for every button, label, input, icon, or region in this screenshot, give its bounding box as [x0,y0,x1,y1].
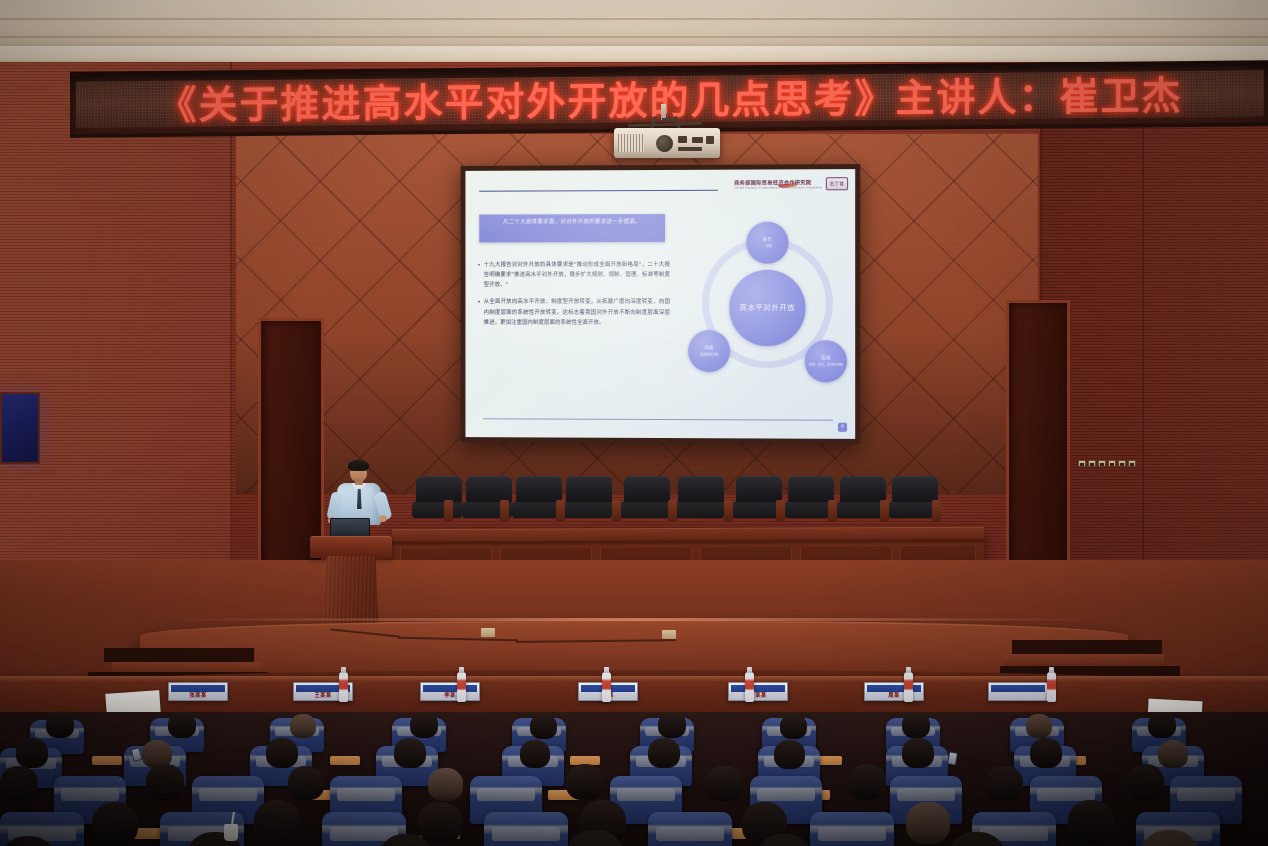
diagram-node-sublabel: 开放、多元、区域开放链 [809,363,843,367]
audience-person-head [410,712,438,738]
conference-chair[interactable] [678,476,724,504]
namecard: 周某 [864,682,924,701]
diagram-node-top: 多元 一带路 [746,222,788,264]
diagram-node-label: 高质 [704,346,713,352]
slide-top-rule [479,190,718,192]
power-outlet-icon[interactable] [1098,460,1106,467]
audience-seat[interactable] [810,812,894,846]
slide-circle-diagram: 高水平对外开放 多元 一带路 高质 自由贸易试验 区域 开放、多元、区域开放链 [682,217,853,403]
audience-person-head [288,766,324,800]
water-bottle [745,672,754,702]
audience-phone[interactable] [947,751,958,765]
namecard-text: 张某某 [189,691,206,699]
diagram-node-bottom-right: 区域 开放、多元、区域开放链 [805,340,847,382]
floor-cable-box [481,628,495,637]
slide-bullet-text: 从全面开放向高水平开放、制度型开放转变，从拓展广度向深度转变，向国内制度层面的系… [484,297,670,327]
audience-person-head [394,738,426,768]
diagram-node-sublabel: 自由贸易试验 [700,352,719,356]
right-side-door[interactable] [1006,300,1070,568]
audience-person-head [902,712,930,738]
diagram-node-bottom-left: 高质 自由贸易试验 [688,330,730,372]
audience-person-head [92,802,138,846]
bullet-dot-icon: • [477,260,480,290]
diagram-node-label: 多元 [763,237,772,243]
podium-top-surface [310,536,392,558]
namecard: 张某某 [168,682,228,701]
audience-person-head [848,764,886,800]
conference-chair[interactable] [788,476,834,504]
diagram-node-sublabel: 一带路 [763,244,772,248]
namecard-text: 周某 [888,691,900,699]
projector-lens [656,135,673,152]
projection-screen: 商务部国际贸易经济合作研究院 Chinese Academy of Intern… [461,164,861,444]
org-name-cn: 商务部国际贸易经济合作研究院 [734,179,822,186]
slide-bullet-item: • 从全面开放向高水平开放、制度型开放转变，从拓展广度向深度转变，向国内制度层面… [477,297,670,327]
wall-seam [1142,70,1144,570]
wall-outlets[interactable] [1078,460,1136,467]
audience-person-head [1158,740,1188,768]
auditorium-photo: 《关于推进高水平对外开放的几点思考》主讲人：崔卫杰 商务部国际贸易经济合作研究院… [0,0,1268,846]
audience-person-head [566,764,604,800]
power-outlet-icon[interactable] [1108,460,1116,467]
speaker-glasses-icon [350,470,367,474]
audience-person-head [774,740,805,769]
audience-person-head [902,738,934,768]
audience-person-head [780,714,807,739]
water-bottle [457,672,466,702]
namecard [988,682,1048,701]
conference-chair[interactable] [892,476,938,504]
audience-person-head [1030,738,1062,768]
audience-person-head [266,738,298,768]
audience-person-head [290,714,316,738]
audience-area [0,712,1268,846]
conference-chair[interactable] [416,476,462,504]
water-bottle [1047,672,1056,702]
organization-logo: 商务部国际贸易经济合作研究院 Chinese Academy of Intern… [734,177,848,191]
audience-person-head [658,712,686,738]
stage-chair-row [416,476,968,532]
slide-title-banner: 凡二十大高体要求看，对对外开放的要求进一步提高。 [479,214,665,242]
org-name-en: Chinese Academy of International Trade a… [734,186,822,189]
audience-person-head [906,802,950,844]
namecard: 李某 [420,682,480,701]
conference-chair[interactable] [516,476,562,504]
audience-seat[interactable] [648,812,732,846]
audience-person-head [418,802,462,844]
power-outlet-icon[interactable] [1088,460,1096,467]
org-logo-mark: 石丁窗 [826,177,848,190]
diagram-node-label: 区域 [821,356,830,362]
audience-person-head [706,766,743,801]
audience-person-head [1068,800,1114,844]
power-outlet-icon[interactable] [1078,460,1086,467]
audience-person-head [46,712,74,738]
namecard-text: 王某某 [314,691,331,699]
slide-bottom-rule [483,418,833,420]
stage-step [1004,654,1164,666]
conference-chair[interactable] [624,476,670,504]
wall-display-panel [0,392,40,464]
audience-person-head [146,764,184,800]
power-outlet-icon[interactable] [1118,460,1126,467]
water-bottle [904,672,913,702]
namecard-text: 李某 [444,691,456,699]
floor-cable-box [662,630,676,639]
left-side-door[interactable] [258,318,324,568]
audience-person-head [530,714,557,739]
water-bottle [339,672,348,702]
audience-person-head [986,766,1023,801]
slide-page-number: 6 [838,423,847,432]
speaker-hand-right [379,515,387,522]
presentation-slide: 商务部国际贸易经济合作研究院 Chinese Academy of Intern… [465,169,855,439]
audience-person-head [254,800,300,844]
audience-person-head [428,768,463,801]
audience-person-head [1148,712,1176,738]
conference-chair[interactable] [566,476,612,504]
audience-person-head [648,738,680,768]
audience-person-head [1126,764,1164,800]
water-bottle [602,672,611,702]
diagram-center-node: 高水平对外开放 [729,270,806,346]
audience-person-head [0,766,38,802]
audience-person-head [520,740,550,768]
conference-chair[interactable] [840,476,886,504]
audience-seat[interactable] [484,812,568,846]
presenter-laptop[interactable] [330,518,370,537]
audience-person-head [1026,714,1052,738]
namecard: 黄某某 [728,682,788,701]
power-outlet-icon[interactable] [1128,460,1136,467]
conference-chair[interactable] [736,476,782,504]
bullet-dot-icon: • [477,298,480,328]
slide-bullet-item: • 十九大报告对对外开放的具体要求是"推动形成全面开放新格局"，二十大报告明确要… [477,260,670,291]
ceiling-projector [614,128,720,158]
audience-person-head [16,738,48,768]
slide-bullet-text: 十九大报告对对外开放的具体要求是"推动形成全面开放新格局"，二十大报告明确要求"… [484,260,670,291]
audience-person-head [168,712,196,738]
drink-cup [224,824,238,841]
slide-bullet-list: • 十九大报告对对外开放的具体要求是"推动形成全面开放新格局"，二十大报告明确要… [477,260,670,335]
